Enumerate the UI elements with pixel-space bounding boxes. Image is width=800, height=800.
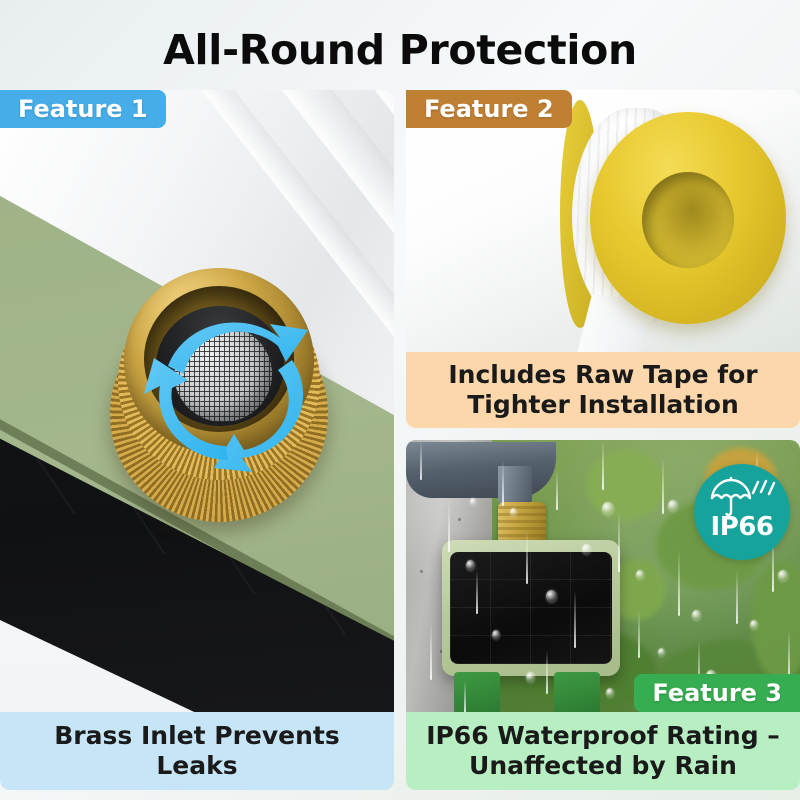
ip66-rating-badge: IP66 [694,464,790,560]
ip66-label: IP66 [694,512,790,542]
feature-3-badge: Feature 3 [634,674,800,712]
feature-1-badge-label: Feature 1 [18,95,148,123]
circular-flow-arrows-icon [104,262,336,542]
feature-1-caption-line-1: Brass Inlet Prevents [54,721,340,752]
feature-3-caption: IP66 Waterproof Rating – Unaffected by R… [406,712,800,790]
feature-2-badge-label: Feature 2 [424,95,554,123]
feature-panel-1 [0,90,394,790]
page-title: All-Round Protection [0,26,800,74]
feature-1-caption: Brass Inlet Prevents Leaks [0,712,394,790]
feature-1-badge: Feature 1 [0,90,166,128]
feature-2-caption-line-1: Includes Raw Tape for [448,360,757,391]
feature-2-caption: Includes Raw Tape for Tighter Installati… [406,352,800,428]
brass-inlet-assembly [104,262,336,542]
feature-2-image [406,90,800,352]
feature-3-caption-line-2: Unaffected by Rain [426,751,780,782]
feature-3-badge-label: Feature 3 [652,679,782,707]
feature-1-image [0,90,394,714]
feature-1-caption-line-2: Leaks [54,751,340,782]
feature-3-caption-line-1: IP66 Waterproof Rating – [426,721,780,752]
spool-center-hole [642,172,734,268]
feature-2-caption-line-2: Tighter Installation [448,390,757,421]
feature-2-badge: Feature 2 [406,90,572,128]
raw-tape-spool [536,98,786,348]
promo-image-canvas: All-Round Protection [0,0,800,800]
